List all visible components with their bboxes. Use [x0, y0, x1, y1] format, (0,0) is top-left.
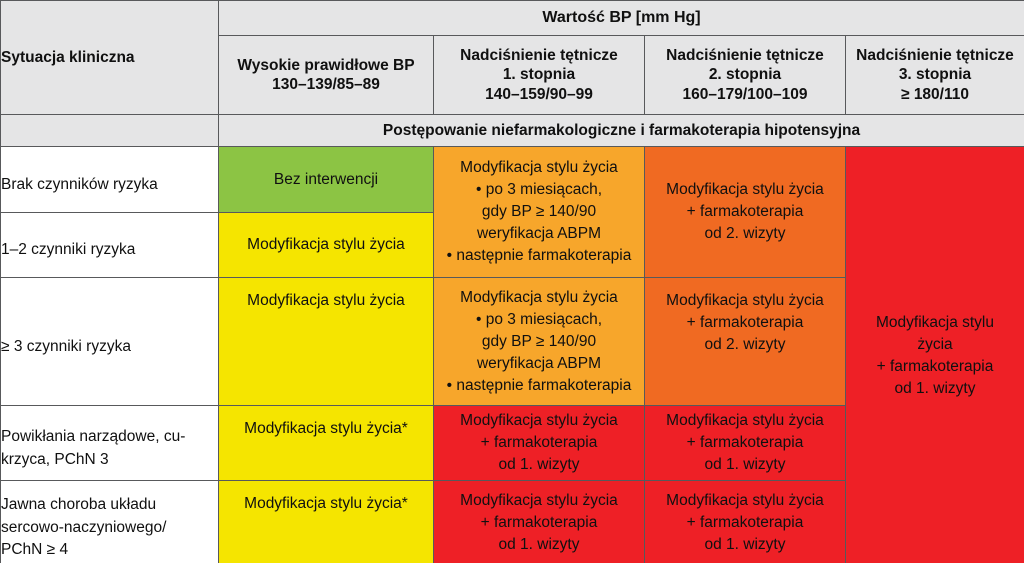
header-row-group: Sytuacja kliniczna Wartość BP [mm Hg]: [1, 1, 1024, 36]
cell-r12c4: Modyfikacja stylu życia+ farmakoterapiao…: [645, 147, 846, 278]
situation-organ-damage-text: Powikłania narządowe, cu-krzyca, PChN 3: [1, 415, 218, 471]
cell-c5-all-rows-lines: Modyfikacja stylużycia+ farmakoterapiaod…: [846, 312, 1024, 400]
cell-line: + farmakoterapia: [645, 201, 845, 223]
cell-line: Modyfikacja stylu życia: [434, 410, 644, 432]
cell-r12c3-lines: Modyfikacja stylu życia• po 3 miesiącach…: [434, 157, 644, 267]
cell-line: Modyfikacja stylu życia: [645, 179, 845, 201]
cell-r12c4-lines: Modyfikacja stylu życia+ farmakoterapiao…: [645, 179, 845, 245]
header-col-grade1-line1: Nadciśnienie tętnicze: [434, 46, 644, 65]
cell-line: Modyfikacja stylu: [846, 312, 1024, 334]
cell-line: od 1. wizyty: [645, 534, 845, 556]
cell-r3c3-lines: Modyfikacja stylu życia• po 3 miesiącach…: [434, 287, 644, 397]
header-bp-group-title: Wartość BP [mm Hg]: [219, 1, 1024, 36]
cell-line: + farmakoterapia: [645, 512, 845, 534]
cell-r2c2: Modyfikacja stylu życia: [219, 213, 434, 278]
cell-line: • po 3 miesiącach,: [434, 309, 644, 331]
cell-line: + farmakoterapia: [434, 512, 644, 534]
header-col-grade2-line3: 160–179/100–109: [645, 85, 845, 104]
cell-line: • następnie farmakoterapia: [434, 375, 644, 397]
situation-3plus-risk-factors-text: ≥ 3 czynniki ryzyka: [1, 325, 218, 358]
header-col-grade2-line1: Nadciśnienie tętnicze: [645, 46, 845, 65]
cell-line: od 1. wizyty: [434, 454, 644, 476]
cell-line: od 1. wizyty: [434, 534, 644, 556]
cell-line: Modyfikacja stylu życia: [219, 234, 433, 256]
cell-r5c4-lines: Modyfikacja stylu życia+ farmakoterapiao…: [645, 490, 845, 556]
cell-line: gdy BP ≥ 140/90: [434, 331, 644, 353]
header-col-high-normal: Wysokie prawidłowe BP 130–139/85–89: [219, 36, 434, 115]
cell-r3c2-lines: Modyfikacja stylu życia: [219, 290, 433, 312]
cell-line: Modyfikacja stylu życia*: [219, 493, 433, 515]
cell-line: weryfikacja ABPM: [434, 223, 644, 245]
cell-line: od 1. wizyty: [846, 378, 1024, 400]
cell-r5c3: Modyfikacja stylu życia+ farmakoterapiao…: [434, 481, 645, 563]
cell-r4c2: Modyfikacja stylu życia*: [219, 406, 434, 481]
cell-line: Modyfikacja stylu życia: [219, 290, 433, 312]
header-row-band: Postępowanie niefarmakologiczne i farmak…: [1, 115, 1024, 147]
cell-r4c2-lines: Modyfikacja stylu życia*: [219, 418, 433, 440]
cell-r5c3-lines: Modyfikacja stylu życia+ farmakoterapiao…: [434, 490, 644, 556]
cell-r5c4: Modyfikacja stylu życia+ farmakoterapiao…: [645, 481, 846, 563]
cell-line: Modyfikacja stylu życia: [645, 410, 845, 432]
header-col-grade3: Nadciśnienie tętnicze 3. stopnia ≥ 180/1…: [846, 36, 1024, 115]
situation-1-2-risk-factors: 1–2 czynniki ryzyka: [1, 213, 219, 278]
cell-line: Modyfikacja stylu życia: [434, 490, 644, 512]
cell-r3c3: Modyfikacja stylu życia• po 3 miesiącach…: [434, 278, 645, 406]
cell-r4c4: Modyfikacja stylu życia+ farmakoterapiao…: [645, 406, 846, 481]
cell-line: + farmakoterapia: [645, 312, 845, 334]
cell-line: • następnie farmakoterapia: [434, 245, 644, 267]
cell-line: + farmakoterapia: [846, 356, 1024, 378]
cell-r4c3-lines: Modyfikacja stylu życia+ farmakoterapiao…: [434, 410, 644, 476]
cell-r4c3: Modyfikacja stylu życia+ farmakoterapiao…: [434, 406, 645, 481]
cell-line: Modyfikacja stylu życia: [434, 287, 644, 309]
situation-3plus-risk-factors: ≥ 3 czynniki ryzyka: [1, 278, 219, 406]
header-col-grade1-line3: 140–159/90–99: [434, 85, 644, 104]
header-col-grade2-line2: 2. stopnia: [645, 65, 845, 84]
cell-c5-all-rows: Modyfikacja stylużycia+ farmakoterapiaod…: [846, 147, 1024, 563]
table-row: Brak czynników ryzyka Bez interwencji Mo…: [1, 147, 1024, 213]
situation-established-cvd-text: Jawna choroba układusercowo-naczyniowego…: [1, 483, 218, 561]
situation-established-cvd: Jawna choroba układusercowo-naczyniowego…: [1, 481, 219, 563]
header-col-grade3-line3: ≥ 180/110: [846, 85, 1024, 104]
cell-line: Modyfikacja stylu życia: [645, 490, 845, 512]
cell-line: od 2. wizyty: [645, 223, 845, 245]
header-situation-label: Sytuacja kliniczna: [1, 1, 219, 115]
header-management-band: Postępowanie niefarmakologiczne i farmak…: [219, 115, 1024, 147]
cell-r4c4-lines: Modyfikacja stylu życia+ farmakoterapiao…: [645, 410, 845, 476]
header-col-grade1: Nadciśnienie tętnicze 1. stopnia 140–159…: [434, 36, 645, 115]
cell-r1c2: Bez interwencji: [219, 147, 434, 213]
cell-r3c4: Modyfikacja stylu życia+ farmakoterapiao…: [645, 278, 846, 406]
bp-management-table: Sytuacja kliniczna Wartość BP [mm Hg] Wy…: [0, 0, 1024, 563]
cell-line: Modyfikacja stylu życia*: [219, 418, 433, 440]
situation-organ-damage: Powikłania narządowe, cu-krzyca, PChN 3: [1, 406, 219, 481]
cell-line: gdy BP ≥ 140/90: [434, 201, 644, 223]
cell-line: weryfikacja ABPM: [434, 353, 644, 375]
cell-r3c2: Modyfikacja stylu życia: [219, 278, 434, 406]
situation-no-risk-factors-text: Brak czynników ryzyka: [1, 163, 218, 196]
header-col-high-normal-line1: Wysokie prawidłowe BP: [219, 56, 433, 75]
cell-line: + farmakoterapia: [434, 432, 644, 454]
cell-r2c2-lines: Modyfikacja stylu życia: [219, 234, 433, 256]
cell-r5c2-lines: Modyfikacja stylu życia*: [219, 493, 433, 515]
situation-1-2-risk-factors-text: 1–2 czynniki ryzyka: [1, 228, 218, 261]
cell-line: Modyfikacja stylu życia: [645, 290, 845, 312]
table-screenshot: Sytuacja kliniczna Wartość BP [mm Hg] Wy…: [0, 0, 1024, 563]
situation-no-risk-factors: Brak czynników ryzyka: [1, 147, 219, 213]
cell-line: + farmakoterapia: [645, 432, 845, 454]
cell-r3c4-lines: Modyfikacja stylu życia+ farmakoterapiao…: [645, 290, 845, 356]
header-col-grade3-line1: Nadciśnienie tętnicze: [846, 46, 1024, 65]
cell-line: od 2. wizyty: [645, 334, 845, 356]
header-col-grade1-line2: 1. stopnia: [434, 65, 644, 84]
header-situation-spacer: [1, 115, 219, 147]
cell-r1c2-lines: Bez interwencji: [219, 169, 433, 191]
cell-line: • po 3 miesiącach,: [434, 179, 644, 201]
cell-line: Modyfikacja stylu życia: [434, 157, 644, 179]
cell-r5c2: Modyfikacja stylu życia*: [219, 481, 434, 563]
cell-r12c3: Modyfikacja stylu życia• po 3 miesiącach…: [434, 147, 645, 278]
header-col-grade3-line2: 3. stopnia: [846, 65, 1024, 84]
header-col-high-normal-line2: 130–139/85–89: [219, 75, 433, 94]
cell-line: od 1. wizyty: [645, 454, 845, 476]
header-col-grade2: Nadciśnienie tętnicze 2. stopnia 160–179…: [645, 36, 846, 115]
cell-line: życia: [846, 334, 1024, 356]
cell-line: Bez interwencji: [219, 169, 433, 191]
